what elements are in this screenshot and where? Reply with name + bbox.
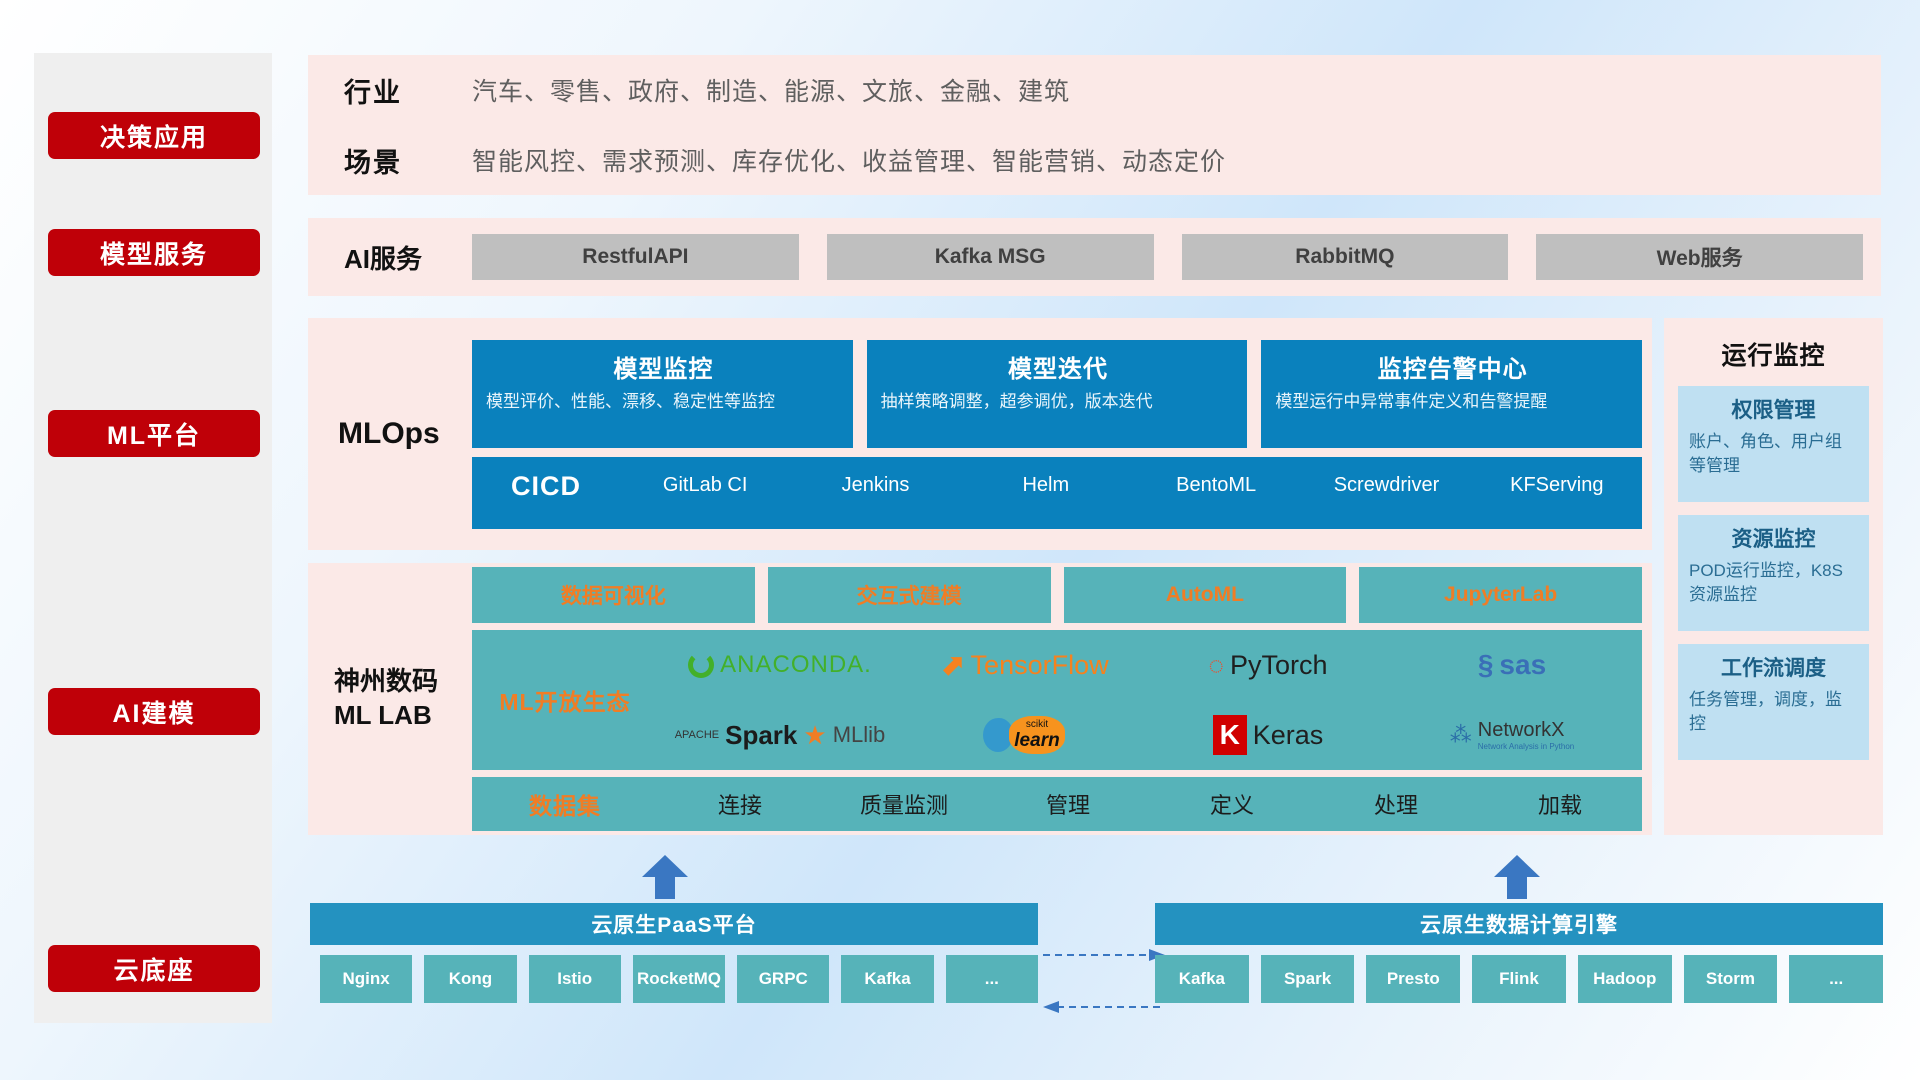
apache-wordmark: APACHE (675, 729, 719, 741)
cloud-chip-kafka-data[interactable]: Kafka (1155, 955, 1249, 1003)
dataset-title: 数据集 (472, 787, 658, 821)
sas-logo-text: sas (1499, 649, 1546, 681)
cloud-paas-bar[interactable]: 云原生PaaS平台 (310, 903, 1038, 945)
mlops-card-alert-center[interactable]: 监控告警中心 模型运行中异常事件定义和告警提醒 (1261, 340, 1642, 448)
scenario-label: 场景 (344, 141, 472, 180)
mlops-card-model-iteration[interactable]: 模型迭代 抽样策略调整，超参调优，版本迭代 (867, 340, 1248, 448)
cloud-chip-rocketmq[interactable]: RocketMQ (633, 955, 725, 1003)
dataset-item-definition[interactable]: 定义 (1150, 788, 1314, 820)
networkx-logo-text: NetworkX (1478, 719, 1565, 742)
scenario-value: 智能风控、需求预测、库存优化、收益管理、智能营销、动态定价 (472, 142, 1226, 178)
stage-label: ML平台 (107, 416, 201, 452)
networkx-logo: ⁂ NetworkX Network Analysis in Python (1390, 719, 1634, 751)
scikit-learn-logo: scikit learn (902, 716, 1146, 754)
ml-ecosystem-panel: ML开放生态 ANACONDA. ⬈ TensorFlow ◌ PyTorch (472, 630, 1642, 770)
mlops-card-title: 监控告警中心 (1275, 349, 1630, 384)
cicd-item-bentoml[interactable]: BentoML (1131, 471, 1301, 498)
dataset-item-quality-monitoring[interactable]: 质量监测 (822, 788, 986, 820)
up-arrow-paas-icon (642, 855, 688, 899)
monitoring-card-desc: 任务管理，调度，监控 (1689, 688, 1858, 736)
mlops-content: 模型监控 模型评价、性能、漂移、稳定性等监控 模型迭代 抽样策略调整，超参调优，… (472, 340, 1652, 529)
applications-band: 行业 汽车、零售、政府、制造、能源、文旅、金融、建筑 场景 智能风控、需求预测、… (308, 55, 1881, 195)
ml-lab-tool-jupyterlab[interactable]: JupyterLab (1359, 567, 1642, 623)
monitoring-column: 运行监控 权限管理 账户、角色、用户组等管理 资源监控 POD运行监控，K8S资… (1664, 318, 1883, 835)
scikit-orange-blob-icon: scikit learn (1009, 716, 1065, 754)
cloud-chip-kafka[interactable]: Kafka (841, 955, 933, 1003)
stage-chip-cloud-base[interactable]: 云底座 (48, 945, 260, 992)
cloud-chip-more-right[interactable]: ... (1789, 955, 1883, 1003)
ml-lab-tool-data-visualization[interactable]: 数据可视化 (472, 567, 755, 623)
dashed-arrow-left-icon (1043, 1000, 1165, 1014)
cloud-chip-more-left[interactable]: ... (946, 955, 1038, 1003)
cloud-chip-flink[interactable]: Flink (1472, 955, 1566, 1003)
ml-ecosystem-logo-grid: ANACONDA. ⬈ TensorFlow ◌ PyTorch § sas (658, 630, 1642, 770)
ai-service-item-web[interactable]: Web服务 (1536, 234, 1863, 280)
ml-lab-band: 神州数码 ML LAB 数据可视化 交互式建模 AutoML JupyterLa… (308, 563, 1652, 835)
cicd-item-jenkins[interactable]: Jenkins (790, 471, 960, 498)
ml-lab-tool-interactive-modeling[interactable]: 交互式建模 (768, 567, 1051, 623)
keras-logo: K Keras (1146, 715, 1390, 755)
ml-lab-label: 神州数码 ML LAB (308, 665, 472, 733)
dataset-item-processing[interactable]: 处理 (1314, 788, 1478, 820)
cicd-bar: CICD GitLab CI Jenkins Helm BentoML Scre… (472, 457, 1642, 529)
cicd-item-gitlab-ci[interactable]: GitLab CI (620, 471, 790, 498)
mlops-label: MLOps (308, 417, 472, 451)
keras-k-icon: K (1213, 715, 1247, 755)
dataset-item-connect[interactable]: 连接 (658, 788, 822, 820)
cicd-item-helm[interactable]: Helm (961, 471, 1131, 498)
scenario-row: 场景 智能风控、需求预测、库存优化、收益管理、智能营销、动态定价 (308, 125, 1881, 195)
cloud-paas-chip-row: Nginx Kong Istio RocketMQ GRPC Kafka ... (320, 955, 1038, 1003)
up-arrow-data-engine-icon (1494, 855, 1540, 899)
mlops-band: MLOps 模型监控 模型评价、性能、漂移、稳定性等监控 模型迭代 抽样策略调整… (308, 318, 1652, 550)
cloud-chip-grpc[interactable]: GRPC (737, 955, 829, 1003)
monitoring-card-workflow[interactable]: 工作流调度 任务管理，调度，监控 (1678, 644, 1869, 760)
ai-services-band: AI服务 RestfulAPI Kafka MSG RabbitMQ Web服务 (308, 218, 1881, 296)
networkx-graph-icon: ⁂ (1450, 722, 1472, 748)
mllib-wordmark: MLlib (833, 722, 886, 748)
keras-logo-text: Keras (1253, 720, 1324, 751)
ai-services-list: RestfulAPI Kafka MSG RabbitMQ Web服务 (472, 234, 1881, 280)
ml-lab-label-line2: ML LAB (334, 699, 472, 733)
tensorflow-mark-icon: ⬈ (939, 648, 964, 683)
scikit-wordmark: scikit (1026, 719, 1048, 730)
cloud-chip-presto[interactable]: Presto (1366, 955, 1460, 1003)
stage-label: 模型服务 (100, 235, 208, 271)
monitoring-card-title: 工作流调度 (1689, 652, 1858, 682)
monitoring-card-resource[interactable]: 资源监控 POD运行监控，K8S资源监控 (1678, 515, 1869, 631)
cloud-data-engine-chip-row: Kafka Spark Presto Flink Hadoop Storm ..… (1155, 955, 1883, 1003)
pytorch-logo: ◌ PyTorch (1146, 650, 1390, 681)
spark-wordmark: Spark (725, 720, 797, 751)
cloud-chip-istio[interactable]: Istio (529, 955, 621, 1003)
spark-mllib-logo: APACHE Spark ★ MLlib (658, 720, 902, 751)
sas-swirl-icon: § (1478, 649, 1494, 681)
ml-lab-tool-list: 数据可视化 交互式建模 AutoML JupyterLab (472, 567, 1642, 623)
ai-services-label: AI服务 (308, 239, 472, 276)
mlops-card-title: 模型监控 (486, 349, 841, 384)
stage-rail (34, 53, 272, 1023)
cloud-chip-nginx[interactable]: Nginx (320, 955, 412, 1003)
cloud-chip-kong[interactable]: Kong (424, 955, 516, 1003)
stage-chip-model-service[interactable]: 模型服务 (48, 229, 260, 276)
cloud-chip-spark[interactable]: Spark (1261, 955, 1355, 1003)
ml-lab-content: 数据可视化 交互式建模 AutoML JupyterLab ML开放生态 ANA… (472, 567, 1652, 831)
industry-value: 汽车、零售、政府、制造、能源、文旅、金融、建筑 (472, 72, 1070, 108)
pytorch-flame-icon: ◌ (1209, 650, 1224, 681)
monitoring-card-desc: 账户、角色、用户组等管理 (1689, 430, 1858, 478)
mlops-card-list: 模型监控 模型评价、性能、漂移、稳定性等监控 模型迭代 抽样策略调整，超参调优，… (472, 340, 1642, 448)
monitoring-card-title: 权限管理 (1689, 394, 1858, 424)
monitoring-card-title: 资源监控 (1689, 523, 1858, 553)
mlops-card-model-monitoring[interactable]: 模型监控 模型评价、性能、漂移、稳定性等监控 (472, 340, 853, 448)
pytorch-logo-text: PyTorch (1230, 650, 1328, 681)
cicd-item-screwdriver[interactable]: Screwdriver (1301, 471, 1471, 498)
anaconda-logo: ANACONDA. (658, 651, 902, 679)
dashed-arrow-right-icon (1043, 948, 1165, 962)
anaconda-ring-icon (688, 652, 714, 678)
spark-star-icon: ★ (803, 720, 826, 751)
tensorflow-logo-text: TensorFlow (971, 650, 1109, 681)
cloud-chip-storm[interactable]: Storm (1684, 955, 1778, 1003)
stage-label: AI建模 (112, 694, 195, 730)
ai-service-item-kafka-msg[interactable]: Kafka MSG (827, 234, 1154, 280)
mlops-card-title: 模型迭代 (881, 349, 1236, 384)
mlops-card-desc: 抽样策略调整，超参调优，版本迭代 (881, 391, 1236, 414)
ml-lab-label-line1: 神州数码 (334, 665, 472, 699)
sas-logo: § sas (1390, 649, 1634, 681)
dataset-item-loading[interactable]: 加载 (1478, 788, 1642, 820)
cicd-item-kfserving[interactable]: KFServing (1472, 471, 1642, 498)
ai-service-item-restfulapi[interactable]: RestfulAPI (472, 234, 799, 280)
architecture-diagram: 决策应用 模型服务 ML平台 AI建模 云底座 行业 汽车、零售、政府、制造、能… (0, 0, 1920, 1080)
cloud-chip-hadoop[interactable]: Hadoop (1578, 955, 1672, 1003)
stage-label: 云底座 (113, 951, 194, 987)
mlops-card-desc: 模型评价、性能、漂移、稳定性等监控 (486, 391, 841, 414)
learn-wordmark: learn (1014, 730, 1059, 752)
monitoring-card-desc: POD运行监控，K8S资源监控 (1689, 559, 1858, 607)
industry-label: 行业 (344, 71, 472, 110)
cicd-title: CICD (472, 471, 620, 502)
monitoring-card-permission[interactable]: 权限管理 账户、角色、用户组等管理 (1678, 386, 1869, 502)
ml-ecosystem-label: ML开放生态 (472, 683, 658, 717)
stage-chip-ai-modeling[interactable]: AI建模 (48, 688, 260, 735)
dataset-bar: 数据集 连接 质量监测 管理 定义 处理 加载 (472, 777, 1642, 831)
anaconda-logo-text: ANACONDA. (720, 651, 872, 679)
stage-chip-ml-platform[interactable]: ML平台 (48, 410, 260, 457)
stage-label: 决策应用 (100, 118, 208, 154)
ml-lab-tool-automl[interactable]: AutoML (1064, 567, 1347, 623)
monitoring-title: 运行监控 (1678, 336, 1869, 372)
tensorflow-logo: ⬈ TensorFlow (902, 648, 1146, 683)
dataset-item-management[interactable]: 管理 (986, 788, 1150, 820)
networkx-tagline: Network Analysis in Python (1478, 742, 1575, 751)
stage-chip-decision-app[interactable]: 决策应用 (48, 112, 260, 159)
ai-service-item-rabbitmq[interactable]: RabbitMQ (1182, 234, 1509, 280)
cloud-data-engine-bar[interactable]: 云原生数据计算引擎 (1155, 903, 1883, 945)
industry-row: 行业 汽车、零售、政府、制造、能源、文旅、金融、建筑 (308, 55, 1881, 125)
mlops-card-desc: 模型运行中异常事件定义和告警提醒 (1275, 391, 1630, 414)
